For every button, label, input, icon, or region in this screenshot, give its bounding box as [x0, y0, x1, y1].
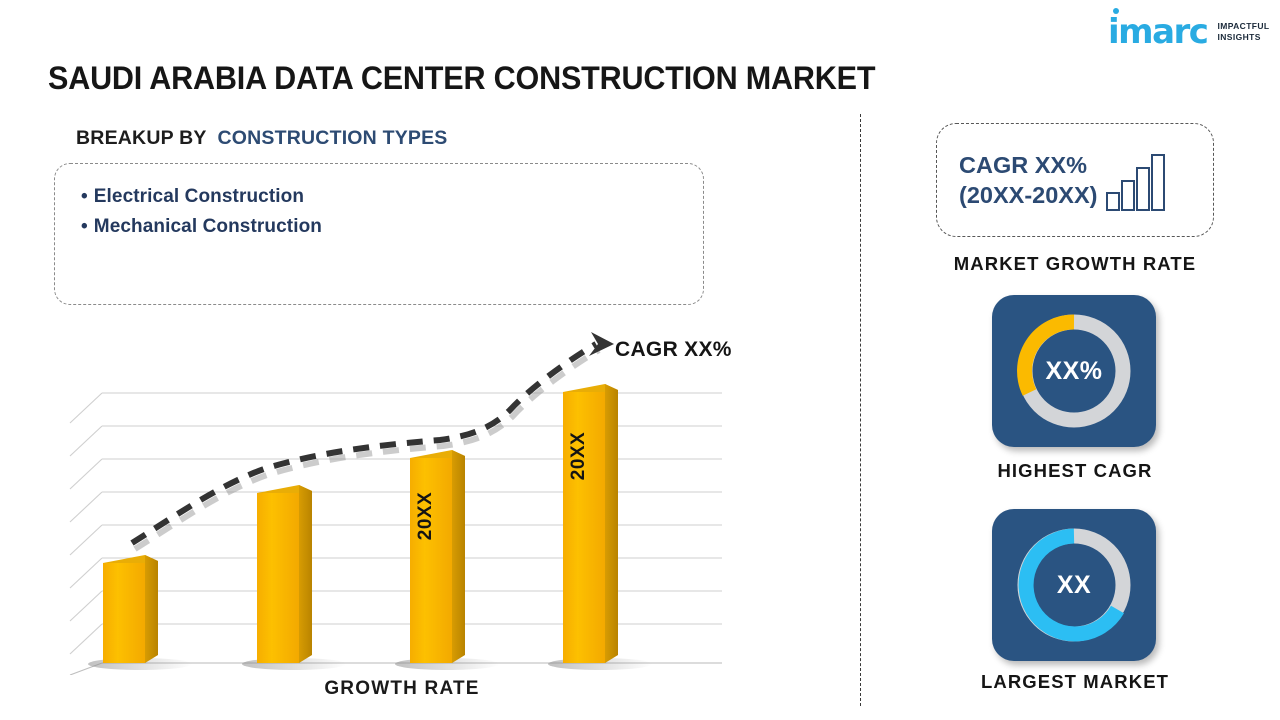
list-item: •Mechanical Construction: [81, 212, 703, 242]
construction-types-box: •Electrical Construction •Mechanical Con…: [54, 163, 704, 305]
chart-gridlines: [70, 393, 722, 675]
list-item-label: Mechanical Construction: [94, 216, 322, 237]
breakup-heading-highlight: CONSTRUCTION TYPES: [217, 127, 447, 149]
cagr-text: CAGR XX% (20XX-20XX): [959, 150, 1097, 210]
infographic-page: imarc IMPACTFUL INSIGHTS SAUDI ARABIA DA…: [0, 0, 1280, 720]
imarc-logo: imarc IMPACTFUL INSIGHTS: [1108, 12, 1268, 52]
bar-chart-icon: [1105, 150, 1167, 217]
market-growth-rate-caption: MARKET GROWTH RATE: [880, 253, 1270, 275]
highest-cagr-card: XX%: [992, 295, 1156, 447]
logo-wordmark-text: imarc: [1108, 12, 1207, 52]
bar-2: [257, 485, 312, 663]
logo-tagline-line1: IMPACTFUL: [1217, 21, 1269, 32]
bar-4-year-label: 20XX: [568, 396, 590, 516]
bullet-icon: •: [81, 216, 88, 237]
trend-line: [132, 332, 614, 549]
bar-chart-svg: [62, 330, 742, 675]
list-item: •Electrical Construction: [81, 182, 703, 212]
highest-cagr-value: XX%: [992, 295, 1156, 447]
market-growth-rate-card: CAGR XX% (20XX-20XX): [936, 123, 1214, 237]
logo-wordmark: imarc: [1108, 15, 1207, 49]
chart-axis-label: GROWTH RATE: [62, 678, 742, 700]
list-item-label: Electrical Construction: [94, 186, 304, 207]
page-title: SAUDI ARABIA DATA CENTER CONSTRUCTION MA…: [48, 60, 875, 97]
bar-3-year-label: 20XX: [415, 456, 437, 576]
breakup-heading: BREAKUP BY CONSTRUCTION TYPES: [76, 127, 448, 150]
largest-market-card: XX: [992, 509, 1156, 661]
bar-1: [103, 555, 158, 663]
growth-rate-bar-chart: CAGR XX% 20XX 20XX GROWTH RATE: [62, 330, 742, 675]
section-divider: [860, 114, 861, 706]
logo-tagline-line2: INSIGHTS: [1217, 32, 1269, 43]
cagr-value: CAGR XX%: [959, 150, 1097, 180]
logo-tagline: IMPACTFUL INSIGHTS: [1217, 21, 1269, 43]
logo-dot-icon: [1113, 8, 1119, 14]
highest-cagr-caption: HIGHEST CAGR: [880, 460, 1270, 482]
cagr-period: (20XX-20XX): [959, 180, 1097, 210]
breakup-heading-prefix: BREAKUP BY: [76, 127, 206, 149]
chart-cagr-annotation: CAGR XX%: [615, 338, 732, 362]
bullet-icon: •: [81, 186, 88, 207]
largest-market-value: XX: [992, 509, 1156, 661]
largest-market-caption: LARGEST MARKET: [880, 671, 1270, 693]
